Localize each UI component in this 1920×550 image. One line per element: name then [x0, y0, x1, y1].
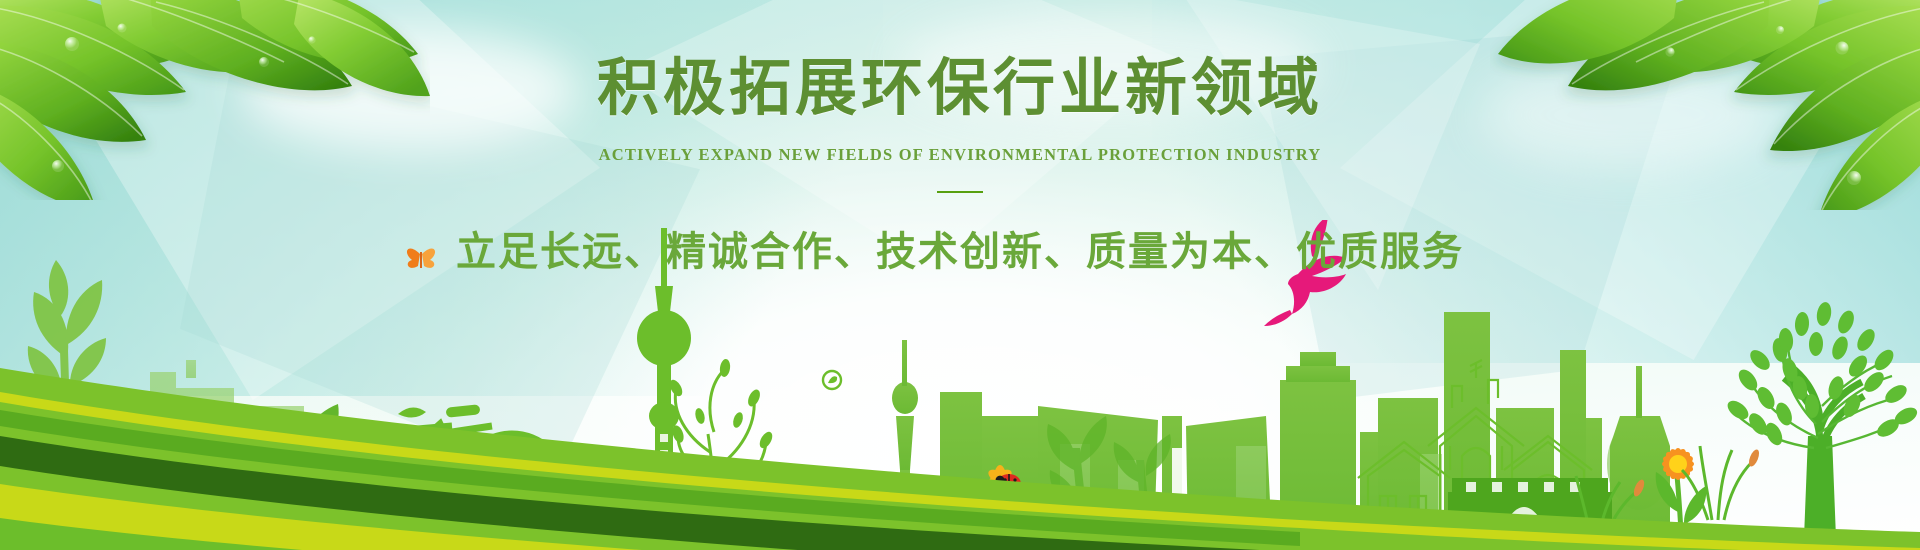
title-divider — [937, 191, 983, 193]
page-title: 积极拓展环保行业新领域 — [0, 55, 1920, 123]
page-tagline: 立足长远、精诚合作、技术创新、质量为本、优质服务 — [0, 219, 1920, 277]
eco-banner: 积极拓展环保行业新领域 ACTIVELY EXPAND NEW FIELDS O… — [0, 0, 1920, 550]
page-subtitle: ACTIVELY EXPAND NEW FIELDS OF ENVIRONMEN… — [0, 145, 1920, 165]
banner-text-block: 积极拓展环保行业新领域 ACTIVELY EXPAND NEW FIELDS O… — [0, 55, 1920, 277]
